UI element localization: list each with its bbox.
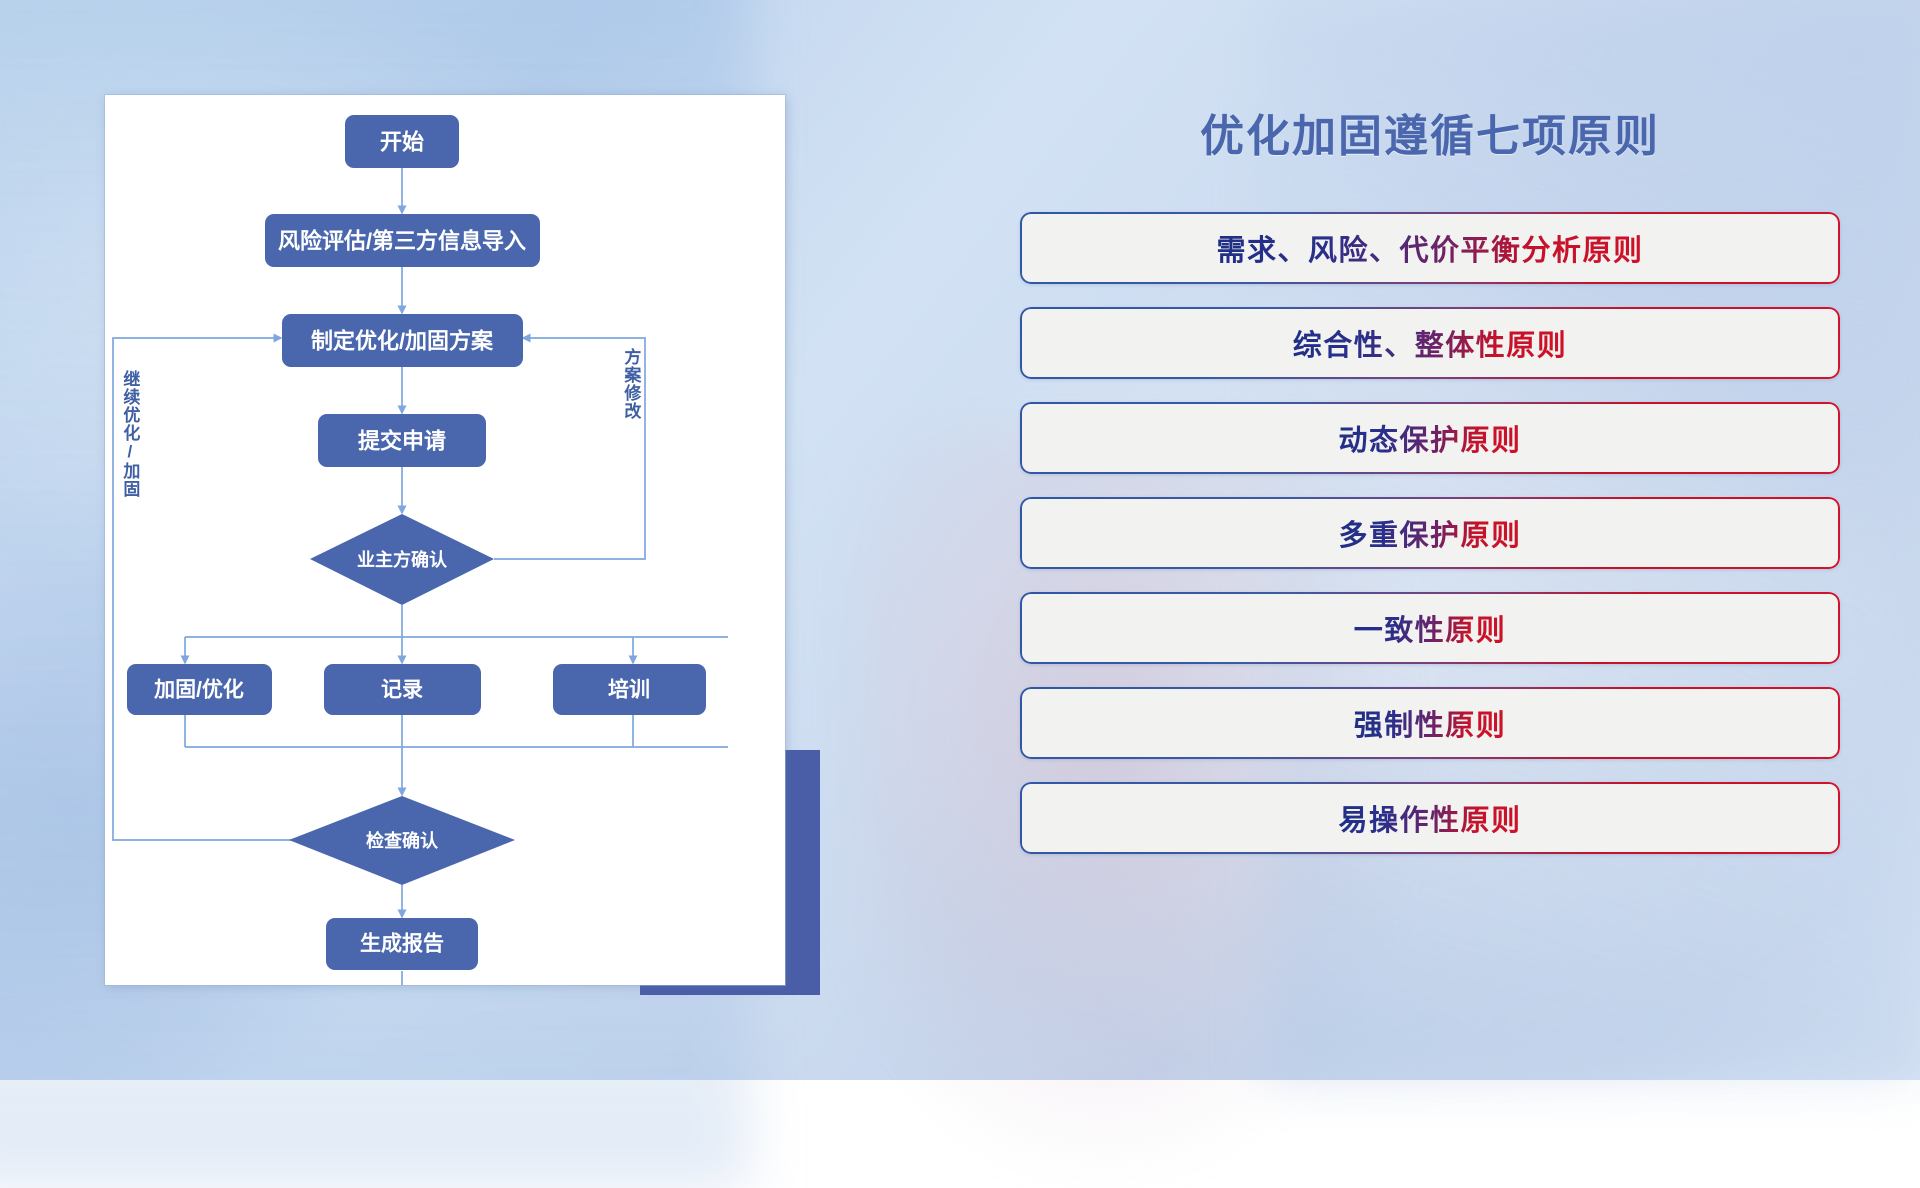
svg-text:记录: 记录 — [381, 679, 423, 702]
svg-text:制定优化/加固方案: 制定优化/加固方案 — [311, 329, 494, 354]
principle-item-4[interactable]: 多重保护原则 — [1020, 497, 1840, 569]
svg-text:加固/优化: 加固/优化 — [153, 678, 244, 702]
principle-label: 一致性原则 — [1354, 607, 1507, 649]
svg-text:检查确认: 检查确认 — [366, 830, 439, 851]
flow-node-reinforce: 加固/优化 — [127, 664, 272, 715]
principle-item-5[interactable]: 一致性原则 — [1020, 592, 1840, 664]
flowchart-diagram: 开始 风险评估/第三方信息导入 制定优化/加固方案 提交申请 业主方确认 加固/… — [105, 95, 785, 985]
flow-node-owner-confirm: 业主方确认 — [310, 514, 494, 605]
flow-node-submit: 提交申请 — [318, 414, 486, 467]
flow-node-report: 生成报告 — [326, 918, 478, 970]
principle-label: 动态保护原则 — [1338, 417, 1521, 459]
svg-text:培训: 培训 — [608, 678, 650, 702]
edge-label-plan-revision: 方案修改 — [622, 348, 639, 420]
principle-label: 易操作性原则 — [1338, 797, 1521, 839]
flow-node-plan: 制定优化/加固方案 — [282, 314, 523, 367]
svg-text:业主方确认: 业主方确认 — [357, 549, 448, 570]
principle-item-6[interactable]: 强制性原则 — [1020, 687, 1840, 759]
svg-text:生成报告: 生成报告 — [360, 932, 444, 956]
principle-item-3[interactable]: 动态保护原则 — [1020, 402, 1840, 474]
edge-label-continue-optimize: 继续优化/加固 — [121, 370, 138, 498]
principle-label: 强制性原则 — [1354, 702, 1507, 744]
flowchart-card: 开始 风险评估/第三方信息导入 制定优化/加固方案 提交申请 业主方确认 加固/… — [105, 95, 785, 985]
svg-text:提交申请: 提交申请 — [358, 429, 446, 454]
principle-label: 多重保护原则 — [1338, 512, 1521, 554]
principle-item-1[interactable]: 需求、风险、代价平衡分析原则 — [1020, 212, 1840, 284]
principle-item-2[interactable]: 综合性、整体性原则 — [1020, 307, 1840, 379]
flow-node-start: 开始 — [345, 115, 459, 168]
flow-node-record: 记录 — [324, 664, 481, 715]
flow-node-training: 培训 — [553, 664, 706, 715]
svg-text:风险评估/第三方信息导入: 风险评估/第三方信息导入 — [278, 229, 526, 254]
page-title: 优化加固遵循七项原则 — [1020, 100, 1840, 164]
principles-panel: 优化加固遵循七项原则 需求、风险、代价平衡分析原则 综合性、整体性原则 动态保护… — [1020, 90, 1840, 1020]
principles-list: 需求、风险、代价平衡分析原则 综合性、整体性原则 动态保护原则 多重保护原则 一… — [1020, 212, 1840, 854]
flow-node-assess: 风险评估/第三方信息导入 — [265, 214, 540, 267]
principle-label: 需求、风险、代价平衡分析原则 — [1216, 227, 1643, 269]
flow-node-check-confirm: 检查确认 — [289, 796, 515, 885]
principle-label: 综合性、整体性原则 — [1293, 322, 1568, 364]
principle-item-7[interactable]: 易操作性原则 — [1020, 782, 1840, 854]
svg-text:开始: 开始 — [380, 130, 424, 155]
